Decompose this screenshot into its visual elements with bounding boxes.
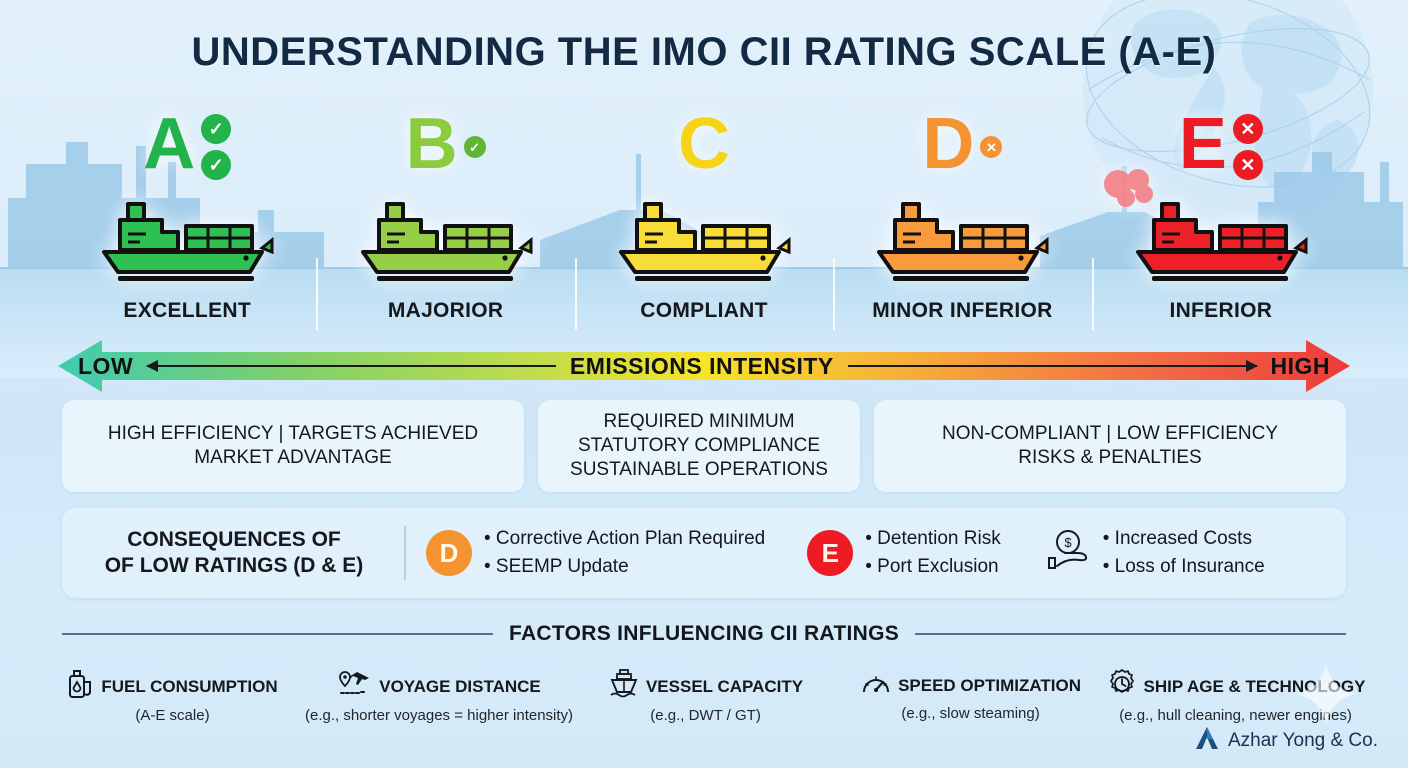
svg-text:$: $ [1064,535,1072,550]
consequence-item: • Corrective Action Plan Required [484,525,765,553]
desc-line: NON-COMPLIANT | LOW EFFICIENCY [942,422,1278,446]
sparkle-decoration [1296,664,1356,724]
arrow-left-line [147,365,556,367]
grade-row-a: A ✓ ✓ [143,110,231,188]
consequence-item: • Detention Risk [865,525,1001,553]
desc-line: SUSTAINABLE OPERATIONS [570,458,828,482]
consequence-items-financial: • Increased Costs • Loss of Insurance [1103,525,1265,580]
gear-clock-icon [1106,668,1138,705]
desc-line: STATUTORY COMPLIANCE [570,434,828,458]
factors-row: FUEL CONSUMPTION (A-E scale) VOYAGE DIST… [40,668,1368,738]
consequences-panel: CONSEQUENCES OF OF LOW RATINGS (D & E) D… [62,508,1346,598]
factors-heading: FACTORS INFLUENCING CII RATINGS [509,622,899,646]
rating-column-e[interactable]: E ✕ ✕ [1092,110,1350,330]
check-icon: ✓ [201,114,231,144]
emissions-high-label: HIGH [1271,353,1331,380]
rating-column-a[interactable]: A ✓ ✓ EX [58,110,316,330]
grade-e-badge: E [807,530,853,576]
consequence-group-e: E • Detention Risk • Port Exclusion [807,525,1001,580]
grade-letter-a: A [143,110,195,178]
factor-name: VESSEL CAPACITY [646,677,803,697]
badge-group-a: ✓ ✓ [201,114,231,180]
brand-logo: Azhar Yong & Co. [1194,725,1378,756]
arrow-right-line [848,365,1257,367]
rating-label-b: MAJORIOR [388,299,504,323]
ratings-row: A ✓ ✓ EX [58,110,1350,330]
grade-row-e: E ✕ ✕ [1179,110,1263,188]
rating-label-c: COMPLIANT [640,299,768,323]
desc-line: RISKS & PENALTIES [942,446,1278,470]
consequence-items-d: • Corrective Action Plan Required • SEEM… [484,525,765,580]
consequence-group-financial: $ • Increased Costs • Loss of Insurance [1043,525,1265,580]
desc-line: HIGH EFFICIENCY | TARGETS ACHIEVED [108,422,478,446]
factor-speed-optimization[interactable]: SPEED OPTIMIZATION (e.g., slow steaming) [838,668,1103,722]
rating-label-d: MINOR INFERIOR [872,299,1052,323]
cross-icon: ✕ [980,136,1002,158]
factor-sub: (A-E scale) [135,707,209,724]
ship-icon-b [353,196,539,287]
ship-icon-e [1128,196,1314,287]
emissions-low-label: LOW [78,353,133,380]
ship-icon-d [869,196,1055,287]
rating-column-c[interactable]: C COMPLIANT [575,110,833,330]
vessel-front-icon [608,668,640,705]
description-box-noncompliant: NON-COMPLIANT | LOW EFFICIENCY RISKS & P… [874,400,1346,492]
ship-icon-c [611,196,797,287]
vertical-divider [404,526,406,580]
grade-row-d: D ✕ [922,110,1002,188]
factor-name: SPEED OPTIMIZATION [898,676,1081,696]
badge-group-d: ✕ [980,136,1002,158]
factor-vessel-capacity[interactable]: VESSEL CAPACITY (e.g., DWT / GT) [573,668,838,724]
badge-group-b: ✓ [464,136,486,158]
fuel-canister-icon [67,668,95,705]
grade-letter-b: B [406,110,458,178]
consequence-items-e: • Detention Risk • Port Exclusion [865,525,1001,580]
rating-label-a: EXCELLENT [123,299,251,323]
route-plane-icon [337,668,373,705]
grade-d-badge: D [426,530,472,576]
check-icon: ✓ [201,150,231,180]
rating-column-d[interactable]: D ✕ MINOR INFERI [833,110,1091,330]
description-box-compliant: REQUIRED MINIMUM STATUTORY COMPLIANCE SU… [538,400,860,492]
hand-dollar-icon: $ [1043,528,1091,579]
emissions-intensity-bar: LOW EMISSIONS INTENSITY HIGH [58,338,1350,394]
check-icon: ✓ [464,136,486,158]
consequences-title: CONSEQUENCES OF OF LOW RATINGS (D & E) [84,527,384,580]
page-title: UNDERSTANDING THE IMO CII RATING SCALE (… [0,30,1408,75]
factors-heading-row: FACTORS INFLUENCING CII RATINGS [62,622,1346,646]
consequence-item: • Port Exclusion [865,553,1001,581]
factor-voyage-distance[interactable]: VOYAGE DISTANCE (e.g., shorter voyages =… [305,668,573,724]
consequence-item: • Increased Costs [1103,525,1265,553]
desc-line: MARKET ADVANTAGE [108,446,478,470]
factor-sub: (e.g., shorter voyages = higher intensit… [305,707,573,724]
description-row: HIGH EFFICIENCY | TARGETS ACHIEVED MARKE… [62,400,1346,492]
azhar-a-logo [1194,725,1220,756]
desc-line: REQUIRED MINIMUM [570,410,828,434]
factor-name: VOYAGE DISTANCE [379,677,541,697]
grade-letter-c: C [678,110,730,178]
grade-letter-d: D [922,110,974,178]
speedometer-icon [860,668,892,703]
description-box-excellent: HIGH EFFICIENCY | TARGETS ACHIEVED MARKE… [62,400,524,492]
rule-left [62,633,493,635]
consequence-group-d: D • Corrective Action Plan Required • SE… [426,525,765,580]
cross-icon: ✕ [1233,150,1263,180]
ship-icon-a [94,196,280,287]
factor-sub: (e.g., slow steaming) [901,705,1039,722]
factor-fuel-consumption[interactable]: FUEL CONSUMPTION (A-E scale) [40,668,305,724]
emissions-title: EMISSIONS INTENSITY [570,353,834,380]
consequence-item: • SEEMP Update [484,553,765,581]
rating-column-b[interactable]: B ✓ MAJORIOR [316,110,574,330]
factor-sub: (e.g., DWT / GT) [650,707,761,724]
grade-row-c: C [678,110,730,188]
consequences-title-line1: CONSEQUENCES OF [84,527,384,553]
grade-row-b: B ✓ [406,110,486,188]
rating-label-e: INFERIOR [1169,299,1272,323]
grade-letter-e: E [1179,110,1227,178]
badge-group-e: ✕ ✕ [1233,114,1263,180]
logo-text: Azhar Yong & Co. [1228,730,1378,752]
factor-name: FUEL CONSUMPTION [101,677,277,697]
rule-right [915,633,1346,635]
smoke-icon [1094,166,1164,212]
consequences-title-line2: OF LOW RATINGS (D & E) [84,553,384,579]
consequence-item: • Loss of Insurance [1103,553,1265,581]
cross-icon: ✕ [1233,114,1263,144]
